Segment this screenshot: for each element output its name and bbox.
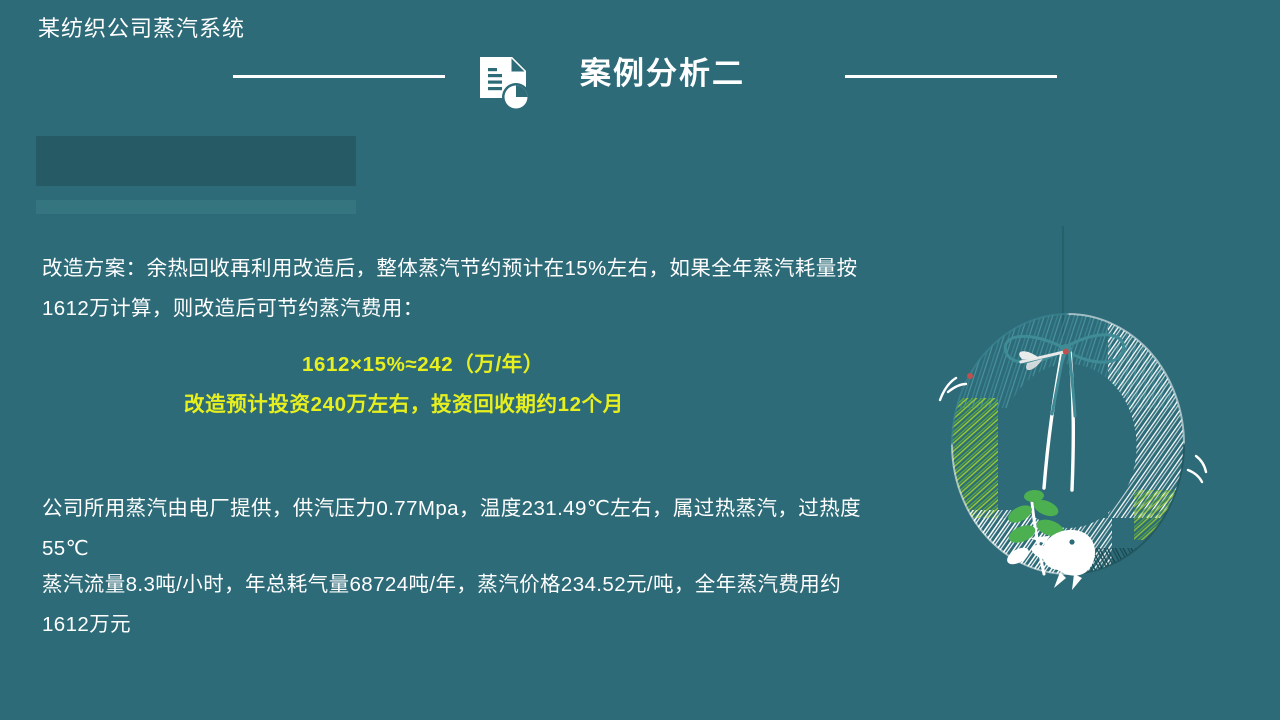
paragraph-steam-spec: 公司所用蒸汽由电厂提供，供汽压力0.77Mpa，温度231.49℃左右，属过热蒸… (42, 489, 862, 569)
wreath-with-bird-illustration (912, 218, 1224, 642)
page-title: 案例分析二 (580, 54, 840, 94)
slide-canvas: 案例分析二 某纺织公司蒸汽系统 改造方案：余热回收再利用改造后，整体蒸汽节约预计… (0, 0, 1280, 720)
highlight-payback: 改造预计投资240万左右，投资回收期约12个月 (184, 385, 624, 425)
section-title-box (36, 136, 356, 186)
paragraph-steam-cost: 蒸汽流量8.3吨/小时，年总耗气量68724吨/年，蒸汽价格234.52元/吨，… (42, 565, 862, 645)
header-rule-right (845, 75, 1057, 78)
header-rule-left (233, 75, 445, 78)
paragraph-plan: 改造方案：余热回收再利用改造后，整体蒸汽节约预计在15%左右，如果全年蒸汽耗量按… (42, 249, 862, 329)
section-accent-bar (36, 200, 356, 214)
highlight-calculation: 1612×15%≈242（万/年） (302, 345, 544, 385)
section-title-label: 某纺织公司蒸汽系统 (38, 11, 245, 43)
document-chart-icon (477, 54, 533, 112)
